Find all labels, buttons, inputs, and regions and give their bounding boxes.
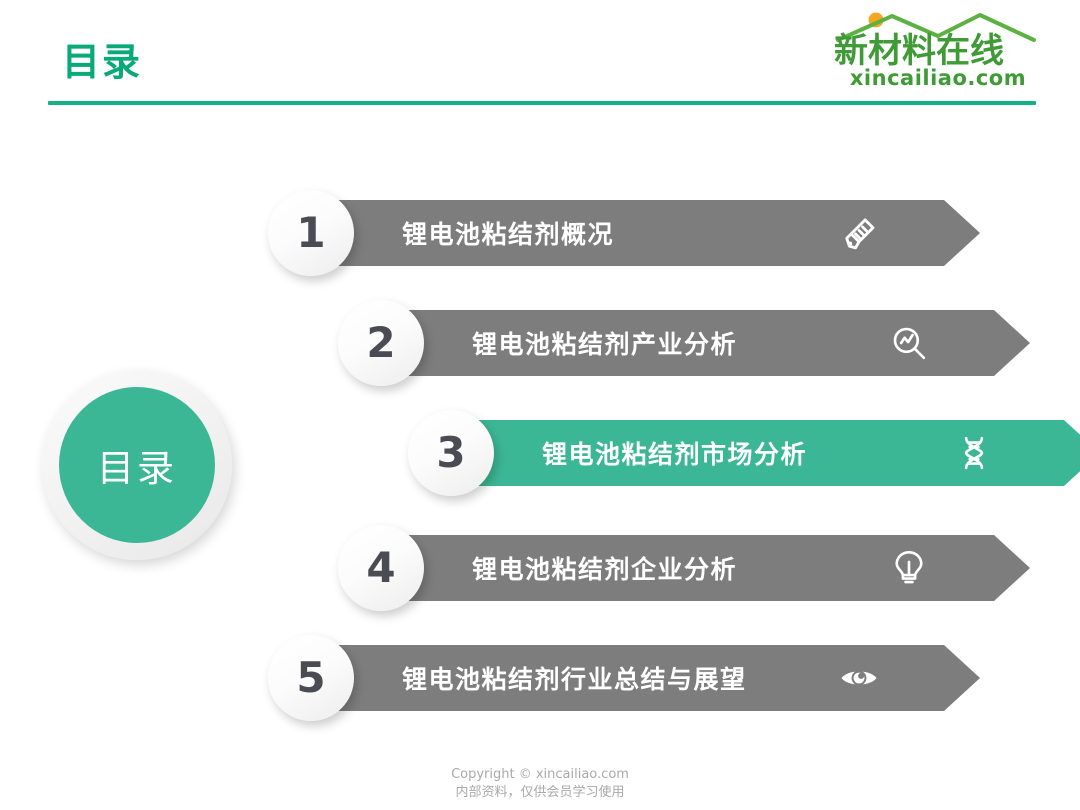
- agenda-item-number: 1: [296, 212, 325, 254]
- footer-notice: 内部资料，仅供会员学习使用: [0, 784, 1080, 802]
- agenda-item-label: 锂电池粘结剂概况: [402, 215, 614, 251]
- footer-copyright: Copyright © xincailiao.com: [0, 766, 1080, 784]
- agenda-item-number: 2: [366, 322, 395, 364]
- eye-icon: [838, 657, 880, 699]
- agenda-item-number-badge: 3: [408, 410, 494, 496]
- agenda-item-label: 锂电池粘结剂行业总结与展望: [402, 660, 747, 696]
- slide-footer: Copyright © xincailiao.com 内部资料，仅供会员学习使用: [0, 766, 1080, 802]
- magnifier-chart-icon: [888, 322, 930, 364]
- agenda-item-number: 3: [436, 432, 465, 474]
- agenda-item-number: 5: [296, 657, 325, 699]
- dna-helix-icon: [953, 432, 995, 474]
- agenda-bar[interactable]: 锂电池粘结剂行业总结与展望: [320, 645, 980, 711]
- agenda-item-number-badge: 1: [268, 190, 354, 276]
- agenda-item-number-badge: 5: [268, 635, 354, 721]
- paint-brush-icon: [838, 212, 880, 254]
- agenda-item-label: 锂电池粘结剂产业分析: [472, 325, 737, 361]
- agenda-list: 锂电池粘结剂概况 1 锂电池粘结剂产业分析: [0, 0, 1080, 810]
- agenda-bar[interactable]: 锂电池粘结剂产业分析: [390, 310, 1030, 376]
- agenda-bar[interactable]: 锂电池粘结剂企业分析: [390, 535, 1030, 601]
- agenda-item-number: 4: [366, 547, 395, 589]
- agenda-bar[interactable]: 锂电池粘结剂概况: [320, 200, 980, 266]
- light-bulb-icon: [888, 547, 930, 589]
- agenda-item-number-badge: 2: [338, 300, 424, 386]
- agenda-item-label: 锂电池粘结剂企业分析: [472, 550, 737, 586]
- agenda-item-number-badge: 4: [338, 525, 424, 611]
- agenda-item-label: 锂电池粘结剂市场分析: [542, 435, 807, 471]
